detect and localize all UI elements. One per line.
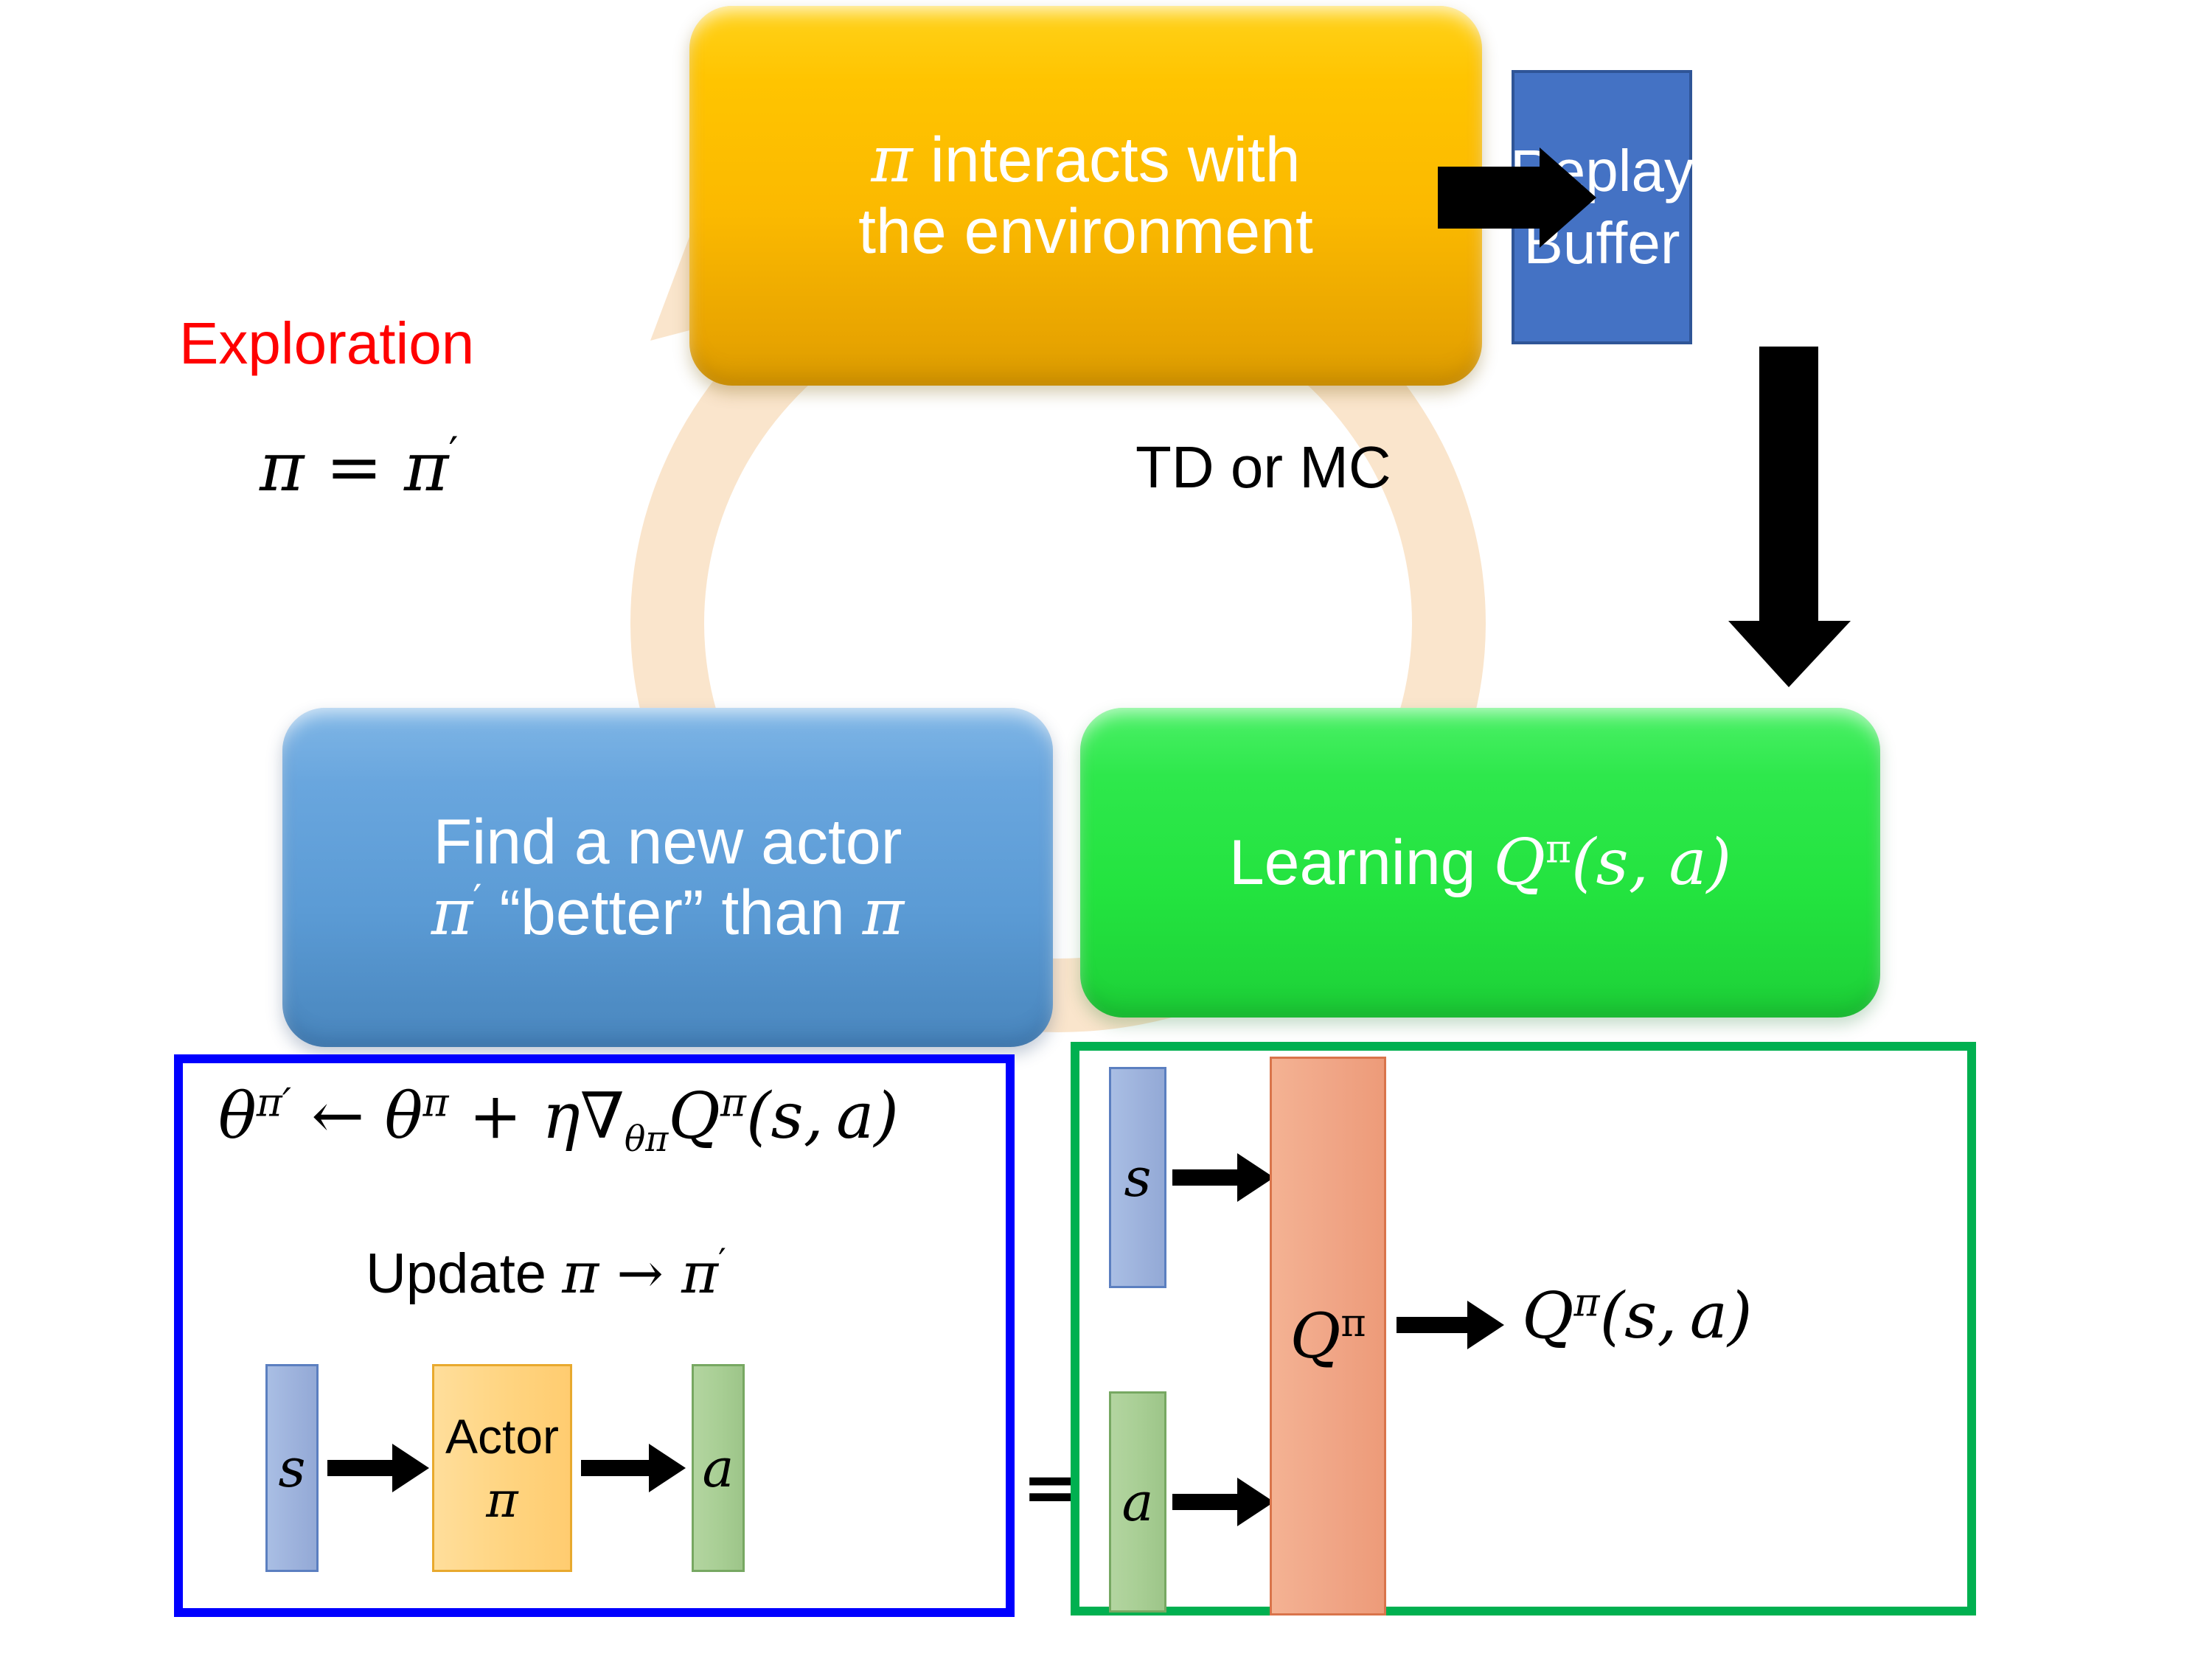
q-network-box: Qπ [1270,1057,1386,1615]
find-new-actor-box[interactable]: Find a new actor π′ “better” than π [282,708,1053,1047]
arrow-down-icon [1718,347,1865,693]
environment-box[interactable]: π π interacts withinteracts with the env… [689,6,1482,386]
environment-line2: the environment [707,196,1464,267]
update-caption: Update π → π′ [366,1240,726,1306]
action-bar-actor: a [692,1364,745,1572]
learning-q-box[interactable]: Learning Qπ(s, a) [1080,708,1880,1018]
state-bar-critic: s [1109,1067,1166,1288]
action-bar-critic: a [1109,1391,1166,1613]
exploration-label: Exploration [179,310,474,378]
state-label-critic: s [1124,1147,1152,1208]
state-label-actor: s [279,1437,306,1499]
actor-pi-label: π [486,1472,518,1528]
diagram-canvas: π π interacts withinteracts with the env… [0,0,2212,1659]
td-or-mc-label: TD or MC [1135,434,1391,501]
policy-gradient-formula: θπ′ ← θπ + η∇θπQπ(s, a) [218,1079,899,1160]
q-output-label: Qπ(s, a) [1522,1279,1753,1353]
find-actor-line1: Find a new actor [300,807,1035,877]
actor-network-box: Actor π [432,1364,572,1572]
actor-update-panel: θπ′ ← θπ + η∇θπQπ(s, a) Update π → π′ s … [174,1054,1015,1617]
arrow-right-icon [1438,147,1607,251]
critic-panel: s a Qπ Qπ(s, a) [1071,1042,1976,1615]
action-label-actor: a [703,1437,734,1499]
action-label-critic: a [1122,1471,1154,1533]
actor-label: Actor [445,1408,559,1464]
state-bar-actor: s [265,1364,319,1572]
policy-equality-label: π = π′ [260,428,458,507]
